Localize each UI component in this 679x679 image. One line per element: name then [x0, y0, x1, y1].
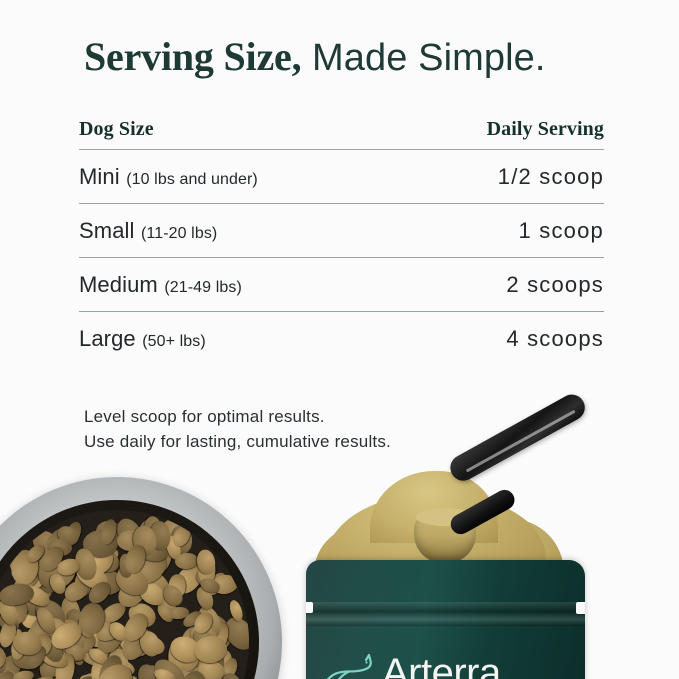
dog-size-cell: Large (50+ lbs) [79, 326, 206, 352]
daily-serving-cell: 1 scoop [519, 218, 604, 244]
daily-serving-cell: 2 scoops [506, 272, 604, 298]
table-row: Small (11-20 lbs) 1 scoop [79, 204, 604, 257]
dog-size-cell: Mini (10 lbs and under) [79, 164, 258, 190]
dog-size-range: (50+ lbs) [142, 333, 206, 350]
dog-logo-icon [322, 652, 374, 679]
brand-wordmark: Arterra [382, 655, 501, 679]
dog-size-name: Large [79, 326, 136, 351]
serving-size-infographic: Serving Size, Made Simple. Dog Size Dail… [0, 0, 679, 679]
dog-size-name: Mini [79, 164, 120, 189]
table-row: Large (50+ lbs) 4 scoops [79, 312, 604, 365]
product-bag: Arterra [306, 560, 585, 679]
page-title: Serving Size, Made Simple. [84, 33, 546, 80]
column-header-dog-size: Dog Size [79, 118, 154, 141]
dog-size-range: (11-20 lbs) [141, 225, 217, 242]
dog-size-cell: Small (11-20 lbs) [79, 218, 217, 244]
table-row: Mini (10 lbs and under) 1/2 scoop [79, 150, 604, 203]
product-photo: Arterra [0, 455, 679, 679]
footnote-text: Level scoop for optimal results. Use dai… [84, 404, 391, 454]
serving-size-table: Dog Size Daily Serving Mini (10 lbs and … [79, 118, 604, 365]
column-header-daily-serving: Daily Serving [487, 118, 604, 141]
bag-tear-notch-left [306, 602, 313, 613]
bag-seal-strip [306, 602, 585, 626]
dog-size-name: Small [79, 218, 135, 243]
dog-size-range: (10 lbs and under) [126, 171, 258, 188]
bag-branding: Arterra [322, 652, 501, 679]
dog-size-name: Medium [79, 272, 158, 297]
table-row: Medium (21-49 lbs) 2 scoops [79, 258, 604, 311]
daily-serving-cell: 1/2 scoop [498, 164, 604, 190]
dog-size-cell: Medium (21-49 lbs) [79, 272, 242, 298]
footnote-line-1: Level scoop for optimal results. [84, 404, 391, 429]
title-serif-part: Serving Size, [84, 34, 301, 79]
bag-tear-notch-right [576, 602, 585, 614]
dog-size-range: (21-49 lbs) [164, 279, 242, 296]
title-sans-part: Made Simple. [301, 37, 545, 79]
daily-serving-cell: 4 scoops [506, 326, 604, 352]
footnote-line-2: Use daily for lasting, cumulative result… [84, 429, 391, 454]
dog-bowl-image [0, 477, 282, 679]
table-header-row: Dog Size Daily Serving [79, 118, 604, 149]
